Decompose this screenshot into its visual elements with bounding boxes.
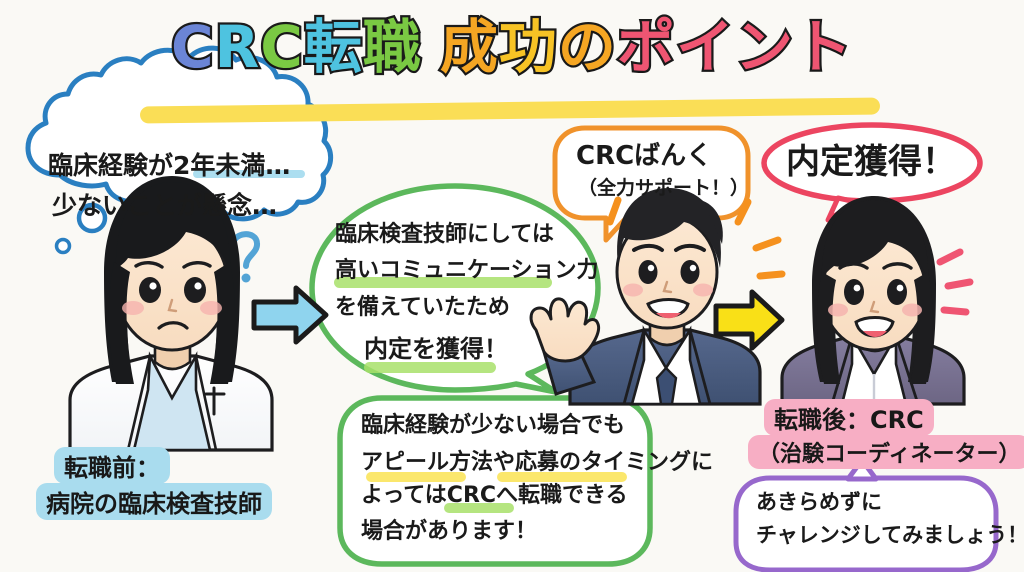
label-after-line-2: （治験コーディネーター） <box>748 435 1024 469</box>
thought-bubble-line-1: 臨床経験が2年未満… <box>48 149 290 183</box>
title-text: CRC転職成功のポイント <box>0 18 1024 76</box>
label-after-line-1: 転職後：CRC <box>764 399 934 436</box>
green-bubble-top-line-3: を備えていたため <box>335 293 510 322</box>
title-char-7: の <box>558 18 617 76</box>
label-before-text-1: 転職前： <box>54 447 170 484</box>
title-char-5: 成 <box>440 18 499 76</box>
orange-bubble-line-2: （全力サポート！） <box>578 176 749 201</box>
title-char-10: ン <box>735 18 794 76</box>
title-char-0: C <box>171 18 215 76</box>
title-char-4: 職 <box>363 18 422 76</box>
page-title: CRC転職成功のポイント <box>0 18 1024 76</box>
title-char-8: ポ <box>617 18 676 76</box>
character-crc-bank-advisor <box>531 188 760 404</box>
green-bubble-top-line-4: 内定を獲得！ <box>364 333 508 365</box>
label-before-line-2: 病院の臨床検査技師 <box>36 483 272 520</box>
label-after-text-2: （治験コーディネーター） <box>748 435 1024 469</box>
label-after-text-1: 転職後：CRC <box>764 399 934 436</box>
green-bubble-bottom-line-3: よってはCRCへ転職できる <box>361 481 628 510</box>
green-bubble-top-line-2: 高いコミュニケーション力 <box>335 256 599 285</box>
orange-bubble-line-1: CRCばんく <box>576 139 712 174</box>
green-bubble-bottom-line-4: 場合があります！ <box>361 517 537 546</box>
green-bubble-top-line-1: 臨床検査技師にしては <box>335 220 554 249</box>
red-bubble-line-1: 内定獲得！ <box>786 140 956 186</box>
green-bubble-bottom-line-2: アピール方法や応募のタイミングに <box>361 448 713 477</box>
infographic-canvas: CRC転職成功のポイント <box>0 0 1024 572</box>
title-char-11: ト <box>794 18 853 76</box>
purple-bubble-line-2: チャレンジしてみましょう！ <box>756 521 1024 549</box>
label-before-line-1: 転職前： <box>54 447 170 484</box>
character-happy-crc-coordinator <box>782 196 964 404</box>
title-char-1: R <box>215 18 261 76</box>
title-char-2: C <box>260 18 304 76</box>
purple-bubble-line-1: あきらめずに <box>756 488 882 516</box>
title-underline <box>140 97 880 123</box>
thought-bubble-line-2: 少ないことが懸念… <box>52 189 277 223</box>
sparkle-pink-icon <box>940 252 970 312</box>
green-bubble-bottom-line-1: 臨床経験が少ない場合でも <box>361 411 625 440</box>
arrow-left-icon <box>254 288 326 342</box>
question-mark-icon <box>233 234 257 282</box>
sparkle-orange-icon <box>610 200 782 276</box>
title-char-6: 功 <box>499 18 558 76</box>
arrow-right-icon <box>716 292 782 348</box>
title-char-3: 転 <box>304 18 363 76</box>
title-char-9: イ <box>676 18 735 76</box>
label-before-text-2: 病院の臨床検査技師 <box>36 483 272 520</box>
